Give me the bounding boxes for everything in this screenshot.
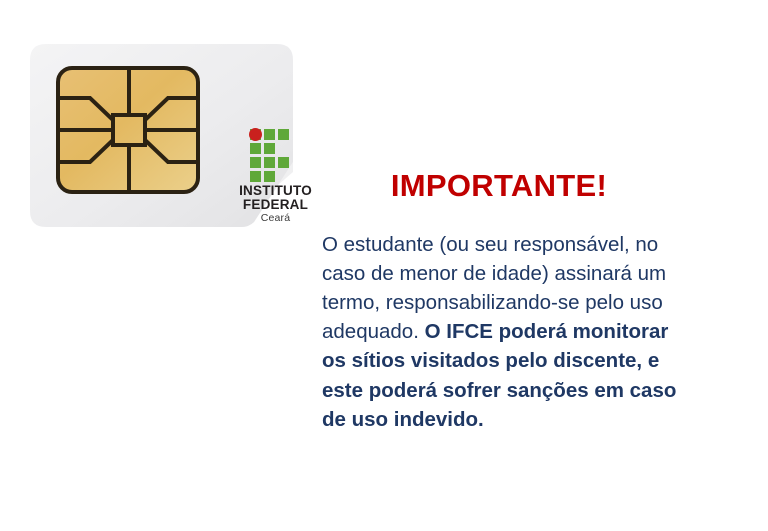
ifce-logo-mark bbox=[250, 129, 302, 177]
logo-square bbox=[278, 157, 289, 168]
logo-line-instituto: INSTITUTO bbox=[239, 184, 312, 198]
logo-red-dot-icon bbox=[249, 128, 262, 141]
logo-square bbox=[264, 143, 275, 154]
logo-square bbox=[278, 129, 289, 140]
logo-square bbox=[264, 171, 275, 182]
text-panel: IMPORTANTE! O estudante (ou seu responsá… bbox=[322, 168, 692, 434]
body-paragraph: O estudante (ou seu responsável, no caso… bbox=[322, 230, 692, 434]
logo-line-ceara: Ceará bbox=[239, 213, 312, 224]
logo-square bbox=[250, 171, 261, 182]
logo-square bbox=[250, 143, 261, 154]
logo-square bbox=[250, 157, 261, 168]
logo-line-federal: FEDERAL bbox=[239, 198, 312, 212]
heading-importante: IMPORTANTE! bbox=[322, 168, 692, 204]
logo-square bbox=[264, 157, 275, 168]
ifce-logo-wordmark: INSTITUTO FEDERAL Ceará bbox=[239, 184, 312, 224]
sim-chip bbox=[58, 68, 198, 192]
ifce-logo: INSTITUTO FEDERAL Ceará bbox=[228, 84, 323, 224]
logo-square bbox=[264, 129, 275, 140]
sim-card-image: INSTITUTO FEDERAL Ceará bbox=[30, 44, 293, 227]
slide-canvas: INSTITUTO FEDERAL Ceará IMPORTANTE! O es… bbox=[0, 0, 768, 531]
